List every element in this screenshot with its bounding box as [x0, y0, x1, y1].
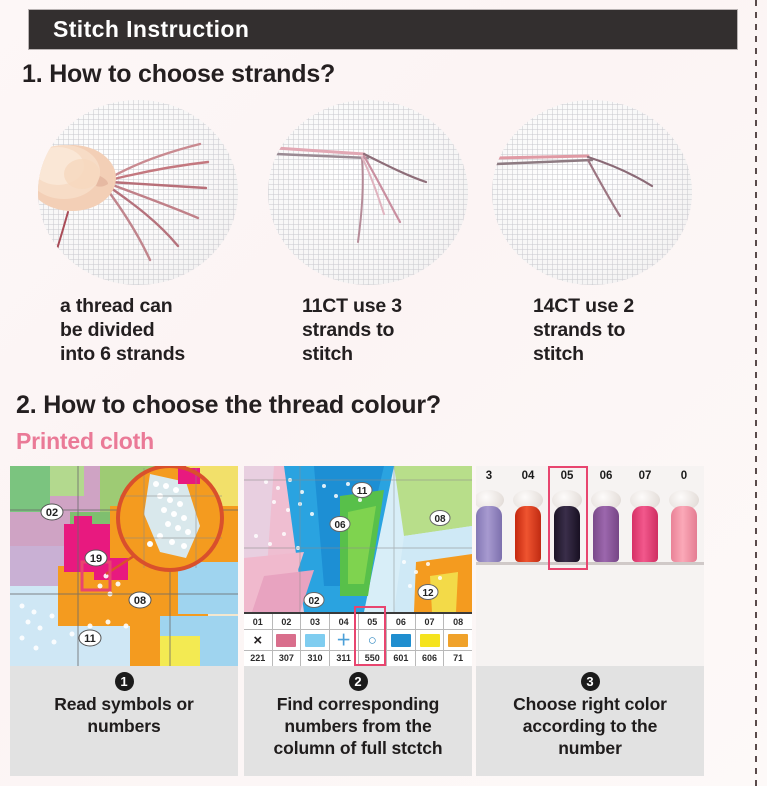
- colour-step-3-caption-panel: 3 Choose right color according to the nu…: [476, 666, 704, 776]
- colour-step-2-caption-panel: 2 Find corresponding numbers from the co…: [244, 666, 472, 776]
- thread-number-labels: 3 04 05 06 07 0: [476, 470, 704, 488]
- three-strands-photo: [268, 100, 468, 285]
- legend-symbol: ＋: [330, 629, 358, 650]
- printed-chart-legend-photo: 11 06 08 12 02 01 ×: [244, 466, 472, 666]
- colour-steps-row: 02 19 08 11 1 Read symbols or numbers: [0, 466, 767, 781]
- legend-symbol-glyph: ○: [368, 633, 377, 648]
- legend-column[interactable]: 03 310: [301, 614, 330, 666]
- thread-skein[interactable]: [585, 490, 627, 570]
- step-badge-1: 1: [115, 672, 134, 691]
- strand-step-2-figure: [268, 100, 478, 290]
- legend-thread-code: 310: [301, 651, 329, 666]
- legend-column[interactable]: 07 606: [416, 614, 445, 666]
- skein-body: [476, 506, 502, 562]
- legend-number: 04: [330, 614, 358, 629]
- legend-column[interactable]: 04 ＋ 311: [330, 614, 359, 666]
- legend-column[interactable]: 01 × 221: [244, 614, 273, 666]
- legend-number: 03: [301, 614, 329, 629]
- svg-text:02: 02: [46, 507, 58, 519]
- thread-label: 0: [673, 470, 695, 482]
- legend-thread-code: 311: [330, 651, 358, 666]
- colour-step-1-caption-panel: 1 Read symbols or numbers: [10, 666, 238, 776]
- strand-step-2-caption: 11CT use 3 strands to stitch: [302, 294, 402, 366]
- legend-thread-code: 221: [244, 651, 272, 666]
- printed-chart-magnifier-photo: 02 19 08 11: [10, 466, 238, 666]
- fingertip-shape: [38, 145, 116, 211]
- legend-thread-code: 307: [273, 651, 301, 666]
- svg-text:08: 08: [434, 514, 446, 525]
- legend-thread-code: 601: [387, 651, 415, 666]
- thread-label: 06: [595, 470, 617, 482]
- legend-color-swatch: [276, 634, 296, 647]
- legend-color-swatch: [448, 634, 468, 647]
- legend-thread-code: 71: [444, 651, 472, 666]
- colour-step-3: 3 04 05 06 07 0: [476, 466, 704, 776]
- header-bar: Stitch Instruction: [28, 9, 738, 50]
- legend-number: 08: [444, 614, 472, 629]
- legend-number: 02: [273, 614, 301, 629]
- legend-symbol: [301, 629, 329, 650]
- thread-label: 3: [478, 470, 500, 482]
- svg-text:06: 06: [334, 520, 346, 531]
- legend-thread-code: 606: [416, 651, 444, 666]
- legend-symbol-glyph: ×: [253, 633, 262, 648]
- colour-step-2: 11 06 08 12 02 01 ×: [244, 466, 472, 776]
- legend-symbol: ○: [359, 629, 387, 650]
- legend-number: 07: [416, 614, 444, 629]
- legend-column-highlighted[interactable]: 05 ○ 550: [359, 614, 388, 666]
- legend-color-swatch: [391, 634, 411, 647]
- svg-text:12: 12: [422, 588, 434, 599]
- thread-label: 07: [634, 470, 656, 482]
- symbol-number-legend-table: 01 × 221 02 307 03 310 0: [244, 612, 472, 666]
- legend-symbol-glyph: ＋: [336, 633, 351, 648]
- legend-color-swatch: [420, 634, 440, 647]
- thread-label-highlighted: 05: [556, 470, 578, 482]
- skein-body: [593, 506, 619, 562]
- skein-body: [632, 506, 658, 562]
- legend-number: 06: [387, 614, 415, 629]
- thread-rack-photo: 3 04 05 06 07 0: [476, 466, 704, 666]
- legend-column[interactable]: 06 601: [387, 614, 416, 666]
- thread-rack: 3 04 05 06 07 0: [476, 466, 704, 666]
- strand-step-1-caption: a thread can be divided into 6 strands: [60, 294, 185, 366]
- legend-symbol: [273, 629, 301, 650]
- legend-symbol: [416, 629, 444, 650]
- svg-text:19: 19: [90, 553, 102, 565]
- colour-step-1: 02 19 08 11 1 Read symbols or numbers: [10, 466, 238, 776]
- svg-text:08: 08: [134, 595, 146, 607]
- hand-splitting-thread-photo: [38, 100, 238, 285]
- thread-skein[interactable]: [507, 490, 549, 570]
- svg-text:02: 02: [308, 596, 320, 607]
- colour-step-3-caption: Choose right color according to the numb…: [480, 693, 700, 759]
- svg-text:11: 11: [84, 633, 96, 645]
- skein-body: [515, 506, 541, 562]
- legend-symbol: [444, 629, 472, 650]
- section-2-heading: 2. How to choose the thread colour?: [16, 391, 441, 420]
- thread-label: 04: [517, 470, 539, 482]
- legend-symbol: ×: [244, 629, 272, 650]
- legend-symbol: [387, 629, 415, 650]
- legend-column[interactable]: 08 71: [444, 614, 472, 666]
- section-1-heading: 1. How to choose strands?: [22, 60, 335, 89]
- strand-photo-row: [0, 100, 767, 295]
- page-title: Stitch Instruction: [29, 16, 249, 43]
- legend-color-swatch: [305, 634, 325, 647]
- legend-number: 05: [359, 614, 387, 629]
- skein-body: [554, 506, 580, 562]
- step-badge-2: 2: [349, 672, 368, 691]
- strand-step-3-figure: [492, 100, 702, 290]
- skein-body: [671, 506, 697, 562]
- thread-skein[interactable]: [663, 490, 704, 570]
- thread-skein[interactable]: [476, 490, 510, 570]
- strand-step-3-caption: 14CT use 2 strands to stitch: [533, 294, 634, 366]
- colour-step-2-caption: Find corresponding numbers from the colu…: [248, 693, 468, 759]
- thread-skein-highlighted[interactable]: [546, 490, 588, 570]
- legend-thread-code: 550: [359, 651, 387, 666]
- printed-cloth-label: Printed cloth: [16, 428, 154, 455]
- legend-column[interactable]: 02 307: [273, 614, 302, 666]
- step-badge-3: 3: [581, 672, 600, 691]
- colour-step-1-caption: Read symbols or numbers: [14, 693, 234, 737]
- svg-text:11: 11: [357, 486, 368, 497]
- two-strands-photo: [492, 100, 692, 285]
- legend-number: 01: [244, 614, 272, 629]
- thread-skein[interactable]: [624, 490, 666, 570]
- strand-step-1-figure: [38, 100, 248, 290]
- instruction-page: Stitch Instruction 1. How to choose stra…: [0, 0, 767, 786]
